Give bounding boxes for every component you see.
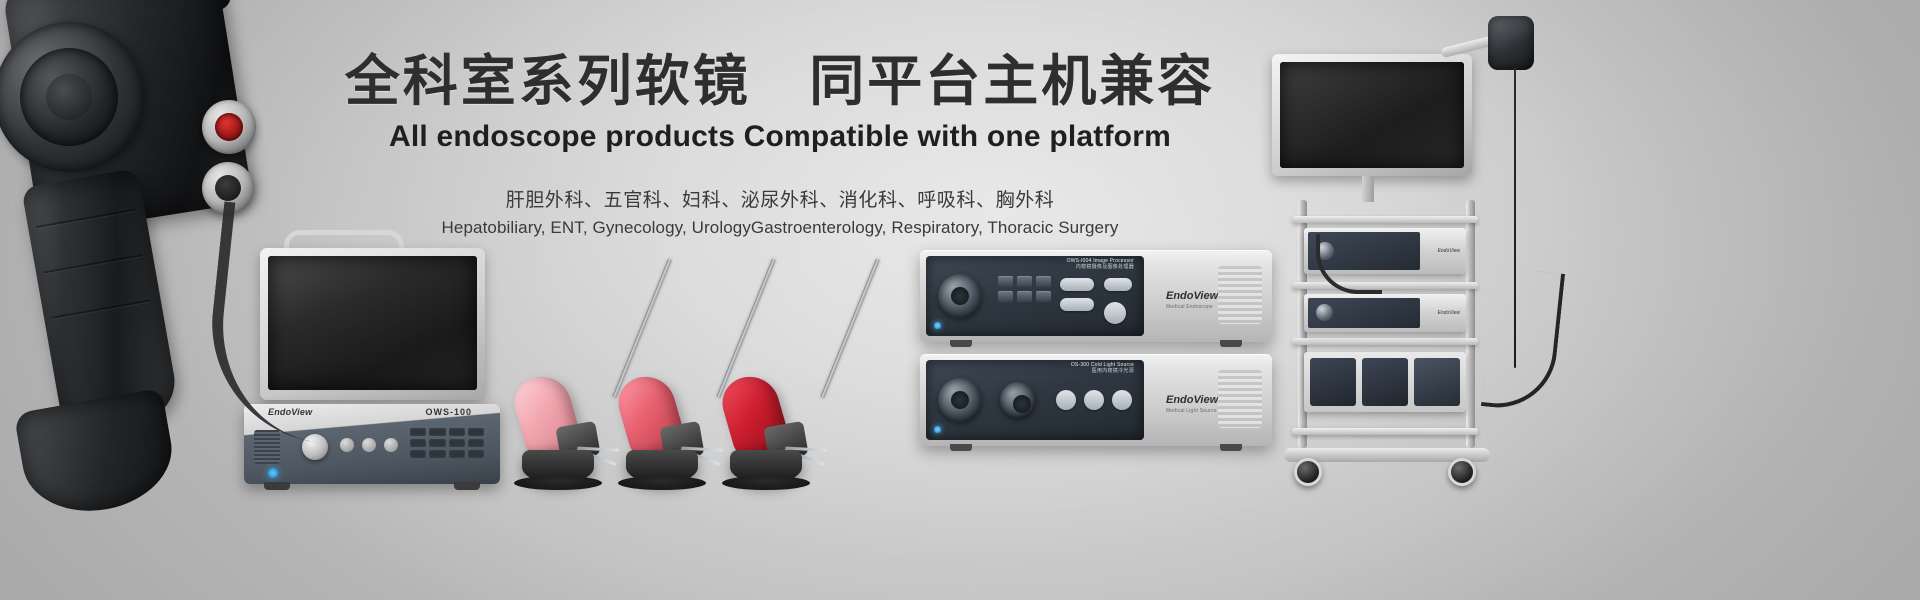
instrument-stand-base: [626, 450, 698, 484]
light-source-front-panel: OS-300 Cold Light Source 医用内窥镜冷光源: [926, 360, 1144, 440]
processor-usb-port: [1104, 278, 1132, 291]
subtitle-english: Hepatobiliary, ENT, Gynecology, UrologyG…: [0, 218, 1560, 238]
processor-vent: [1218, 266, 1262, 324]
processor-front-panel: OWS-I004 Image Processor 内窥镜摄像及图像处理器: [926, 256, 1144, 336]
light-source-brand-subtitle: Medical Light Source: [1166, 408, 1217, 414]
cart-device-brand: EndoView: [1438, 248, 1460, 254]
workstation-foot-right: [454, 482, 480, 490]
processor-stack-image: OWS-I004 Image Processor 内窥镜摄像及图像处理器 End…: [920, 250, 1280, 450]
processor-foot-right: [1220, 340, 1242, 347]
light-source-power-led: [934, 426, 941, 433]
cart-wheel-left: [1294, 458, 1322, 486]
cart-device-brand: EndoView: [1438, 310, 1460, 316]
instrument-stand-base: [730, 450, 802, 484]
product-banner: EndoView OWS-100: [0, 0, 1920, 600]
cart-device-sub-panel-2: [1362, 358, 1408, 406]
light-source-secondary-knob: [1000, 382, 1036, 418]
processor-slot-b: [1060, 298, 1094, 311]
headline-chinese-part2: 同平台主机兼容: [809, 50, 1215, 112]
workstation-model-label: OWS-100: [425, 407, 472, 417]
cart-wheel-right: [1448, 458, 1476, 486]
processor-title-cn: 内窥镜摄像及图像处理器: [1076, 263, 1134, 270]
processor-slot-a: [1060, 278, 1094, 291]
headline-chinese-part1: 全科室系列软镜: [345, 50, 751, 112]
light-source-brightness-knob: [938, 378, 982, 422]
light-source-button-1: [1056, 390, 1076, 410]
cart-device-light-source: EndoView: [1304, 294, 1466, 332]
processor-round-button: [1104, 302, 1126, 324]
light-source-brand-label: EndoView: [1166, 394, 1218, 406]
cart-device-sub-panel-1: [1310, 358, 1356, 406]
endoscope-grip-end: [14, 388, 181, 522]
instrument-shaft: [820, 258, 880, 399]
cart-shelf-3: [1292, 338, 1478, 345]
workstation-keypad: [410, 428, 484, 458]
light-source-title-cn: 医用内窥镜冷光源: [1092, 367, 1134, 374]
processor-button-grid: [998, 276, 1051, 302]
cold-light-source-unit: OS-300 Cold Light Source 医用内窥镜冷光源 EndoVi…: [920, 354, 1272, 446]
laparoscopic-instrument-3: [716, 248, 866, 498]
processor-power-led: [934, 322, 941, 329]
processor-brand-subtitle: Medical Endoscope: [1166, 304, 1213, 310]
cart-device-knob: [1316, 304, 1333, 321]
headline-chinese: 全科室系列软镜 同平台主机兼容: [0, 52, 1560, 111]
instrument-stand-base: [522, 450, 594, 484]
banner-text-block: 全科室系列软镜 同平台主机兼容 All endoscope products C…: [0, 52, 1560, 238]
processor-foot-left: [950, 340, 972, 347]
cart-device-insufflator: [1304, 352, 1466, 412]
cart-device-sub-panel-3: [1414, 358, 1460, 406]
processor-brand-label: EndoView: [1166, 290, 1218, 302]
light-source-vent: [1218, 370, 1262, 428]
cart-shelf-2: [1292, 282, 1478, 289]
headline-english: All endoscope products Compatible with o…: [0, 119, 1560, 155]
processor-main-knob: [938, 274, 982, 318]
subtitle-chinese: 肝胆外科、五官科、妇科、泌尿外科、消化科、呼吸科、胸外科: [0, 185, 1560, 212]
light-source-foot-right: [1220, 444, 1242, 451]
cart-endoscope-tube-curve: [1481, 267, 1565, 414]
camera-image-processor-unit: OWS-I004 Image Processor 内窥镜摄像及图像处理器 End…: [920, 250, 1272, 342]
light-source-button-2: [1084, 390, 1104, 410]
cart-shelf-4: [1292, 428, 1478, 435]
light-source-foot-left: [950, 444, 972, 451]
light-source-button-3: [1112, 390, 1132, 410]
